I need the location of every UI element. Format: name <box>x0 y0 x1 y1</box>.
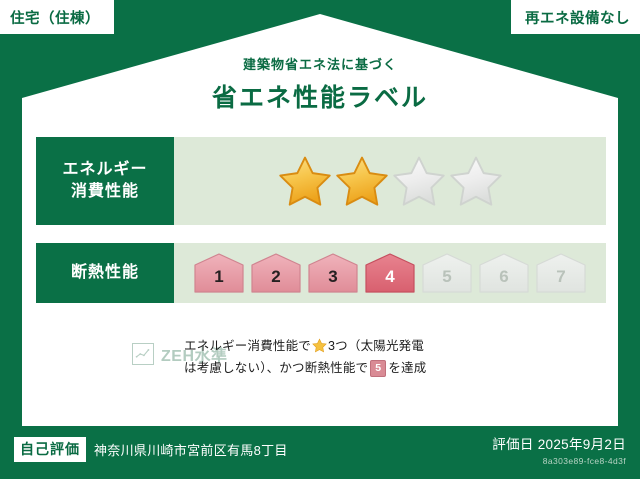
zeh-section: ZEH水準 エネルギー消費性能で3つ（太陽光発電 は考慮しない）、かつ断熱性能で… <box>36 334 606 379</box>
energy-performance-label: エネルギー 消費性能 <box>36 137 174 225</box>
insulation-performance-label: 断熱性能 <box>36 243 174 303</box>
zeh-description-line1: エネルギー消費性能で3つ（太陽光発電 <box>184 336 426 358</box>
zeh-desc-text-b: 3つ（太陽光発電 <box>328 339 424 353</box>
zeh-desc-text-a: エネルギー消費性能で <box>184 339 311 353</box>
insulation-level-chip-6: 6 <box>478 252 530 294</box>
insulation-level-chip-2: 2 <box>250 252 302 294</box>
renewable-energy-tag: 再エネ設備なし <box>511 0 640 34</box>
building-type-tag: 住宅（住棟） <box>0 0 114 34</box>
zeh-description-line2: は考慮しない）、かつ断熱性能で5を達成 <box>184 358 426 380</box>
star-filled-icon <box>335 154 389 208</box>
footer-right-group: 評価日 2025年9月2日 8a303e89-fce8-4d3f <box>492 433 626 466</box>
insulation-level-chip-7: 7 <box>535 252 587 294</box>
footer: 自己評価 神奈川県川崎市宮前区有馬8丁目 評価日 2025年9月2日 8a303… <box>0 426 640 479</box>
star-filled-icon <box>278 154 332 208</box>
evaluation-id: 8a303e89-fce8-4d3f <box>492 456 626 466</box>
insulation-level-scale: 1234567 <box>174 243 606 303</box>
renewable-energy-text: 再エネ設備なし <box>525 7 630 28</box>
zeh-desc-text-d: を達成 <box>388 361 426 375</box>
insulation-level-chip-3: 3 <box>307 252 359 294</box>
zeh-desc-text-c: は考慮しない）、かつ断熱性能で <box>184 361 368 375</box>
zeh-level-chip: 5 <box>370 360 386 378</box>
evaluation-date: 評価日 2025年9月2日 <box>492 433 626 453</box>
footer-left-group: 自己評価 神奈川県川崎市宮前区有馬8丁目 <box>14 437 288 462</box>
energy-performance-row: エネルギー 消費性能 <box>36 137 606 225</box>
insulation-label-text: 断熱性能 <box>71 262 139 284</box>
insulation-level-chip-1: 1 <box>193 252 245 294</box>
title-subtitle: 建築物省エネ法に基づく <box>0 54 640 73</box>
building-type-text: 住宅（住棟） <box>10 7 100 28</box>
insulation-performance-row: 断熱性能 1234567 <box>36 243 606 303</box>
zeh-badge: ZEH水準 <box>36 334 184 366</box>
energy-performance-label: 住宅（住棟） 再エネ設備なし 建築物省エネ法に基づく 省エネ性能ラベル エネルギ… <box>0 0 640 479</box>
star-empty-icon <box>392 154 446 208</box>
energy-label-line2: 消費性能 <box>71 181 139 203</box>
zeh-description: エネルギー消費性能で3つ（太陽光発電 は考慮しない）、かつ断熱性能で5を達成 <box>184 334 426 379</box>
star-empty-icon <box>449 154 503 208</box>
title-block: 建築物省エネ法に基づく 省エネ性能ラベル <box>0 54 640 114</box>
zeh-chart-icon <box>132 343 154 365</box>
inline-star-icon <box>312 338 327 353</box>
insulation-level-chip-4: 4 <box>364 252 416 294</box>
insulation-level-chip-5: 5 <box>421 252 473 294</box>
property-address: 神奈川県川崎市宮前区有馬8丁目 <box>94 440 288 459</box>
energy-label-line1: エネルギー <box>62 159 147 181</box>
self-evaluation-badge: 自己評価 <box>14 437 86 462</box>
page-title: 省エネ性能ラベル <box>0 78 640 114</box>
energy-star-rating <box>174 137 606 225</box>
